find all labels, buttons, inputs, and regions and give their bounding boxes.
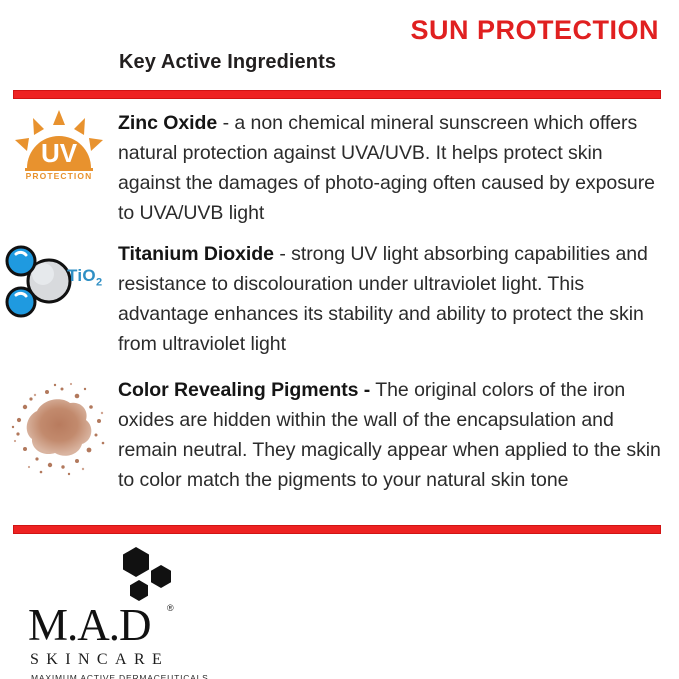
section-subtitle: Key Active Ingredients [119,52,336,72]
ingredient-separator: - [217,112,234,134]
divider-top [13,90,661,99]
ingredient-icon-cell: UV PROTECTION [0,108,118,182]
uv-protection-sun-icon: UV PROTECTION [13,110,105,182]
brand-name: M.A.D [28,603,151,648]
pigment-powder-icon [7,377,111,481]
ingredient-description-color-revealing-pigments: Color Revealing Pigments - The original … [118,375,670,495]
brand-tagline: MAXIMUM ACTIVE DERMACEUTICALS [31,673,209,679]
ingredient-icon-cell [0,375,118,481]
ingredient-description-titanium-dioxide: Titanium Dioxide - strong UV light absor… [118,239,670,359]
divider-bottom [13,525,661,534]
brand-subtitle: SKINCARE [30,651,169,669]
svg-text:PROTECTION: PROTECTION [26,171,93,181]
svg-text:UV: UV [41,138,78,168]
ingredient-name-zinc-oxide: Zinc Oxide [118,112,217,134]
titanium-dioxide-molecule-icon: TiO2 [5,241,113,321]
tio2-formula-main: TiO [67,266,96,285]
tio2-formula-label: TiO2 [67,266,102,288]
product-info-panel: SUN PROTECTION Key Active Ingredients [0,0,679,679]
ingredient-name-titanium-dioxide: Titanium Dioxide [118,243,274,265]
ingredient-separator: - [274,243,291,265]
ingredient-row-zinc-oxide: UV PROTECTION Zinc Oxide - a non chemica… [0,108,679,228]
tio2-formula-subscript: 2 [96,276,102,288]
ingredient-row-color-revealing-pigments: Color Revealing Pigments - The original … [0,375,679,495]
ingredient-description-zinc-oxide: Zinc Oxide - a non chemical mineral suns… [118,108,670,228]
ingredient-icon-cell: TiO2 [0,239,118,321]
page-title: SUN PROTECTION [410,17,659,44]
ingredient-row-titanium-dioxide: TiO2 Titanium Dioxide - strong UV light … [0,239,679,359]
hexagon-cluster-icon [112,545,184,607]
registered-trademark-icon: ® [167,603,174,613]
ingredient-name-color-revealing-pigments: Color Revealing Pigments - [118,379,370,401]
